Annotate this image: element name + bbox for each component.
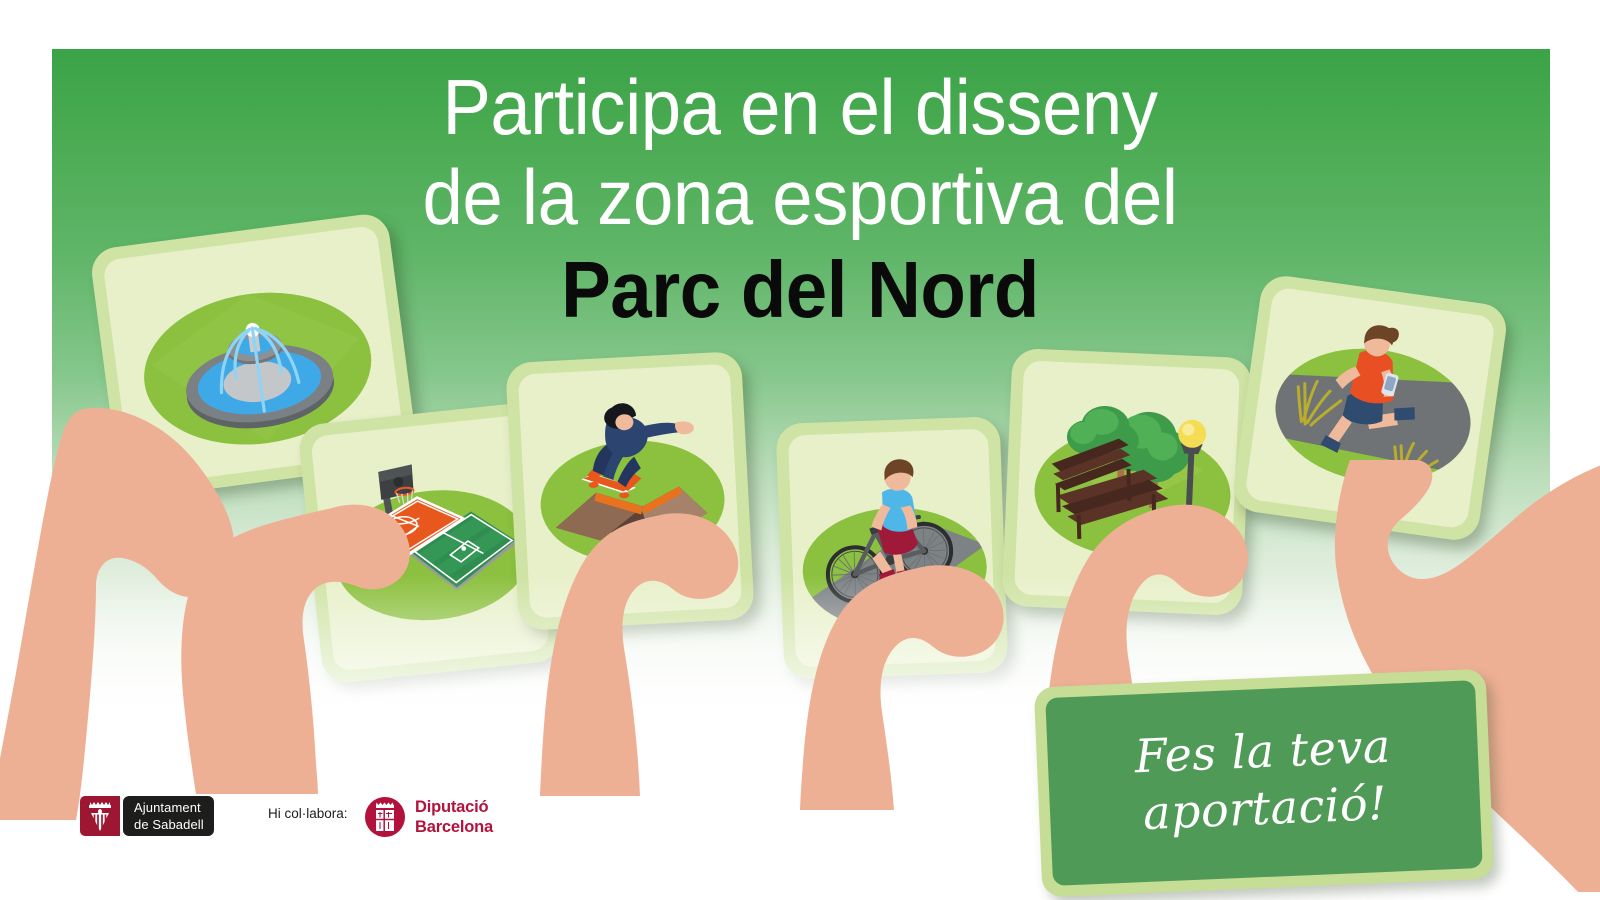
diputacio-crest-icon bbox=[365, 797, 405, 837]
ajuntament-line-2: de Sabadell bbox=[134, 816, 204, 833]
diputacio-line-1: Diputació bbox=[415, 798, 488, 816]
hand-middle-left bbox=[540, 506, 810, 796]
ajuntament-name-box: Ajuntament de Sabadell bbox=[123, 796, 214, 836]
logo-diputacio-barcelona[interactable]: Diputació Barcelona bbox=[365, 794, 493, 840]
hand-middle-right bbox=[800, 560, 1070, 810]
diputacio-name: Diputació Barcelona bbox=[415, 797, 493, 837]
footer-logos: Ajuntament de Sabadell Hi col·labora: Di… bbox=[0, 782, 1600, 852]
hand-left-inner bbox=[140, 494, 440, 794]
diputacio-line-2: Barcelona bbox=[415, 818, 493, 836]
sabadell-crest-icon bbox=[80, 796, 120, 836]
poster-canvas: Participa en el disseny de la zona espor… bbox=[0, 0, 1600, 900]
logo-ajuntament-sabadell[interactable]: Ajuntament de Sabadell bbox=[80, 796, 214, 836]
cta-line-1: Fes la teva bbox=[1134, 719, 1392, 784]
collaborator-label: Hi col·labora: bbox=[268, 806, 348, 821]
ajuntament-line-1: Ajuntament bbox=[134, 799, 204, 816]
